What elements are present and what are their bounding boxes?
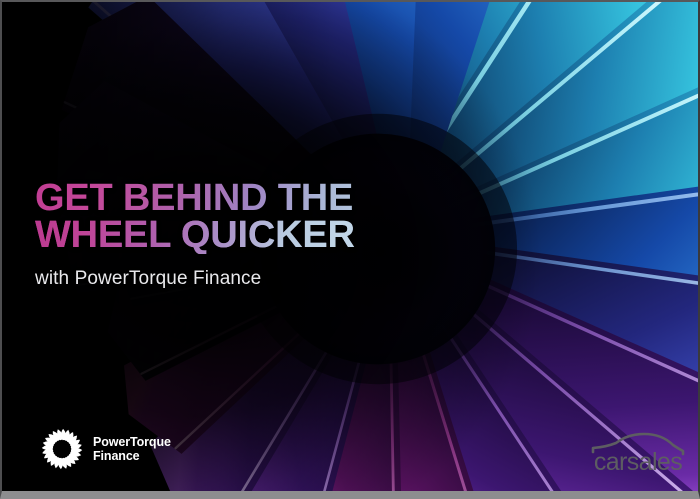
- powertorque-wordmark-line-2: Finance: [93, 449, 171, 463]
- headline-line-1: GET BEHIND THE: [35, 177, 353, 219]
- ad-copy-block: GET BEHIND THE WHEEL QUICKER with PowerT…: [35, 180, 465, 290]
- powertorque-wordmark-line-1: PowerTorque: [93, 435, 171, 449]
- powertorque-finance-logo[interactable]: PowerTorque Finance: [39, 426, 171, 472]
- headline-line-2: WHEEL QUICKER: [35, 217, 465, 254]
- page-title: GET BEHIND THE WHEEL QUICKER: [35, 180, 465, 254]
- powertorque-wordmark: PowerTorque Finance: [93, 435, 171, 463]
- carsales-logo[interactable]: carsales: [590, 430, 686, 475]
- ad-banner[interactable]: GET BEHIND THE WHEEL QUICKER with PowerT…: [0, 0, 700, 499]
- subheadline: with PowerTorque Finance: [35, 268, 465, 290]
- carsales-wordmark: carsales: [590, 450, 686, 475]
- powertorque-turbine-mark: [39, 426, 85, 472]
